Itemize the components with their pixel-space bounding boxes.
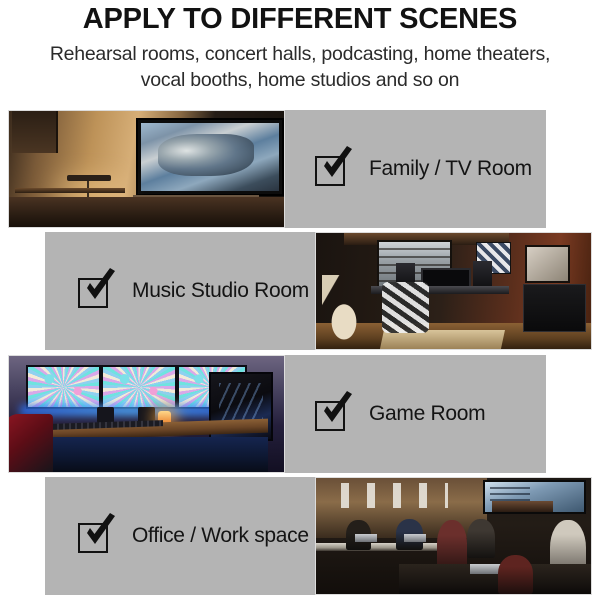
scene-photo-family-tv: [8, 110, 285, 228]
page-subtitle: Rehearsal rooms, concert halls, podcasti…: [0, 41, 600, 93]
header: APPLY TO DIFFERENT SCENES Rehearsal room…: [0, 0, 600, 93]
poster-root: APPLY TO DIFFERENT SCENES Rehearsal room…: [0, 0, 600, 600]
scene-panel-family-tv: Family / TV Room: [285, 110, 546, 228]
scene-photo-game: [8, 355, 285, 473]
scene-row-family-tv: Family / TV Room: [8, 110, 546, 228]
page-title: APPLY TO DIFFERENT SCENES: [0, 2, 600, 36]
checkbox-game[interactable]: [315, 395, 353, 433]
scene-photo-music-studio: [315, 232, 592, 350]
checkbox-square-icon: [315, 156, 345, 186]
checkbox-square-icon: [78, 523, 108, 553]
scene-row-game: Game Room: [8, 355, 546, 473]
checkbox-music-studio[interactable]: [78, 272, 116, 310]
scene-label-music-studio: Music Studio Room: [132, 279, 309, 303]
scene-label-game: Game Room: [369, 402, 485, 426]
scene-label-family-tv: Family / TV Room: [369, 157, 532, 181]
scene-photo-office: [315, 477, 592, 595]
scene-label-office: Office / Work space: [132, 524, 309, 548]
scene-panel-game: Game Room: [285, 355, 546, 473]
scene-panel-office: Office / Work space: [45, 477, 315, 595]
checkbox-square-icon: [315, 401, 345, 431]
subtitle-line-2: vocal booths, home studios and so on: [0, 67, 600, 93]
scene-row-music-studio: Music Studio Room: [45, 232, 592, 350]
subtitle-line-1: Rehearsal rooms, concert halls, podcasti…: [50, 43, 550, 65]
checkbox-family-tv[interactable]: [315, 150, 353, 188]
scene-panel-music-studio: Music Studio Room: [45, 232, 315, 350]
scene-row-office: Office / Work space: [45, 477, 592, 595]
checkbox-square-icon: [78, 278, 108, 308]
checkbox-office[interactable]: [78, 517, 116, 555]
